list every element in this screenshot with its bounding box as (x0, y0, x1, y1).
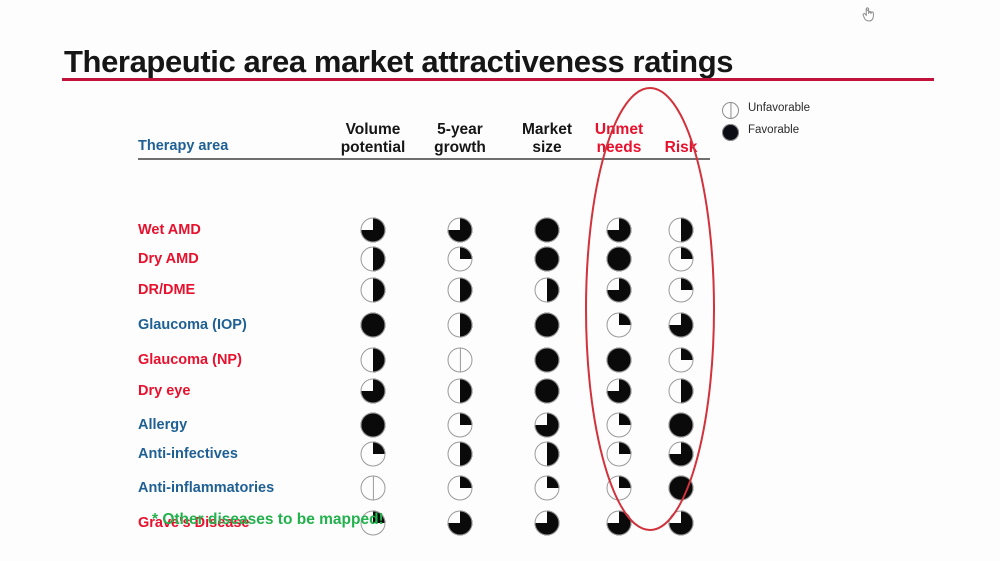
harvey-ball (607, 348, 632, 373)
harvey-ball (535, 278, 560, 303)
harvey-ball (448, 348, 473, 373)
title-underline-rule (62, 78, 934, 81)
harvey-ball (669, 413, 694, 438)
harvey-ball (361, 247, 386, 272)
harvey-ball (607, 442, 632, 467)
harvey-ball (607, 413, 632, 438)
footnote-text: * Other diseases to be mapped! (152, 511, 384, 529)
harvey-ball (448, 379, 473, 404)
legend-label: Unfavorable (748, 102, 810, 114)
harvey-ball (669, 442, 694, 467)
row-label-therapy-area: Anti-infectives (138, 446, 238, 462)
table-header-row: Therapy areaVolumepotential5-yeargrowthM… (138, 104, 714, 158)
harvey-ball (535, 218, 560, 243)
harvey-ball (669, 511, 694, 536)
red-ellipse-annotation (0, 0, 1000, 561)
harvey-ball (448, 442, 473, 467)
harvey-ball (535, 348, 560, 373)
harvey-ball (607, 278, 632, 303)
table-header-divider (138, 158, 710, 160)
harvey-ball (535, 313, 560, 338)
column-header-therapy_area: Therapy area (138, 138, 228, 154)
empty-harvey-ball (722, 102, 739, 119)
harvey-ball (669, 247, 694, 272)
row-label-therapy-area: Dry eye (138, 383, 190, 399)
harvey-ball (448, 313, 473, 338)
harvey-ball (448, 218, 473, 243)
harvey-ball (361, 442, 386, 467)
harvey-ball (535, 247, 560, 272)
harvey-ball (535, 476, 560, 501)
harvey-ball (669, 218, 694, 243)
column-header-volume_potential: Volumepotential (328, 121, 418, 156)
harvey-ball (669, 278, 694, 303)
harvey-ball (361, 218, 386, 243)
column-header-risk: Risk (636, 139, 726, 156)
harvey-ball (607, 511, 632, 536)
harvey-ball (607, 476, 632, 501)
harvey-ball (448, 413, 473, 438)
harvey-ball (607, 313, 632, 338)
row-label-therapy-area: Wet AMD (138, 222, 201, 238)
slide-canvas: Therapeutic area market attractiveness r… (0, 0, 1000, 561)
full-harvey-ball (722, 124, 739, 141)
harvey-ball (361, 348, 386, 373)
harvey-ball (361, 278, 386, 303)
row-label-therapy-area: Dry AMD (138, 251, 199, 267)
legend-label: Favorable (748, 124, 799, 136)
row-label-therapy-area: Allergy (138, 417, 187, 433)
row-label-therapy-area: Glaucoma (NP) (138, 352, 242, 368)
harvey-ball (669, 379, 694, 404)
harvey-ball (361, 413, 386, 438)
row-label-therapy-area: Glaucoma (IOP) (138, 317, 247, 333)
harvey-ball (448, 247, 473, 272)
ratings-table: Therapy areaVolumepotential5-yeargrowthM… (138, 104, 714, 158)
harvey-ball (535, 442, 560, 467)
harvey-ball (361, 379, 386, 404)
harvey-ball (669, 476, 694, 501)
hand-pointer-cursor (858, 5, 880, 27)
harvey-ball (361, 476, 386, 501)
page-title: Therapeutic area market attractiveness r… (64, 44, 733, 80)
harvey-ball (535, 413, 560, 438)
row-label-therapy-area: DR/DME (138, 282, 195, 298)
harvey-ball (448, 476, 473, 501)
harvey-ball (361, 313, 386, 338)
harvey-ball (607, 218, 632, 243)
harvey-ball (669, 348, 694, 373)
harvey-ball (669, 313, 694, 338)
harvey-ball (535, 379, 560, 404)
harvey-ball (535, 511, 560, 536)
row-label-therapy-area: Anti-inflammatories (138, 480, 274, 496)
harvey-ball (607, 247, 632, 272)
harvey-ball (448, 278, 473, 303)
harvey-ball (607, 379, 632, 404)
harvey-ball (448, 511, 473, 536)
column-header-five_year_growth: 5-yeargrowth (415, 121, 505, 156)
